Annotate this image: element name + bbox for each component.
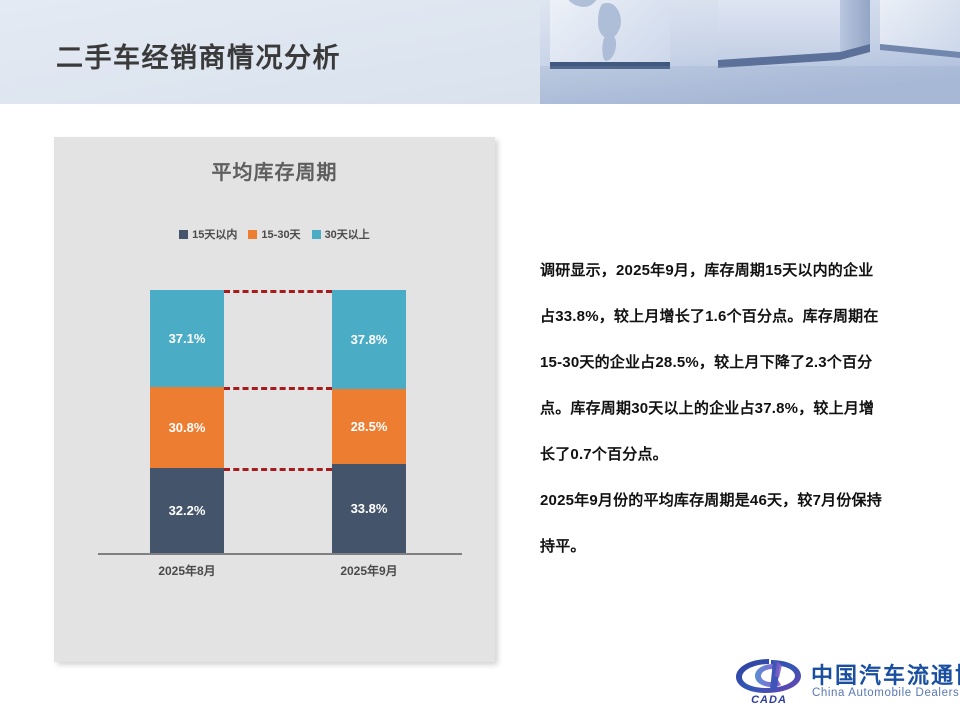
page-title: 二手车经销商情况分析	[56, 36, 341, 75]
logo-name-cn: 中国汽车流通协会	[811, 658, 960, 690]
bar-segment-over-30-days[interactable]: 37.8%	[332, 290, 406, 389]
slide-header: 二手车经销商情况分析	[0, 0, 960, 104]
commentary-line: 长了0.7个百分点。	[540, 432, 940, 478]
bar-segment-15-to-30-days[interactable]: 30.8%	[150, 387, 224, 468]
chart-card: 平均库存周期 15天以内 15-30天 30天以上 37.1% 30.8% 32…	[54, 137, 495, 662]
bar-column-2025-09[interactable]: 37.8% 28.5% 33.8%	[332, 290, 406, 553]
category-label-2025-09: 2025年9月	[314, 562, 424, 579]
commentary-line: 占33.8%，较上月增长了1.6个百分点。库存周期在	[540, 294, 940, 340]
commentary-line: 调研显示，2025年9月，库存周期15天以内的企业	[540, 248, 940, 294]
header-decoration-cubes-icon	[540, 0, 960, 104]
logo-name-en: China Automobile Dealers Association	[812, 687, 960, 699]
bar-segment-over-30-days[interactable]: 37.1%	[150, 290, 224, 388]
chart-axis-line	[98, 553, 462, 555]
commentary-line: 持平。	[540, 524, 940, 570]
bar-segment-15-days-or-less[interactable]: 33.8%	[332, 464, 406, 553]
commentary-line: 15-30天的企业占28.5%，较上月下降了2.3个百分	[540, 340, 940, 386]
connector-line-middle	[224, 387, 332, 390]
commentary-line: 点。库存周期30天以上的企业占37.8%，较上月增	[540, 386, 940, 432]
connector-line-top	[224, 290, 332, 293]
connector-line-bottom	[224, 468, 332, 471]
svg-text:CADA: CADA	[751, 694, 787, 706]
category-label-2025-08: 2025年8月	[132, 562, 242, 579]
cada-emblem-icon: CADA	[733, 656, 805, 706]
commentary-text: 调研显示，2025年9月，库存周期15天以内的企业 占33.8%，较上月增长了1…	[540, 248, 940, 570]
bar-segment-15-days-or-less[interactable]: 32.2%	[150, 468, 224, 553]
bar-column-2025-08[interactable]: 37.1% 30.8% 32.2%	[150, 290, 224, 553]
slide: 二手车经销商情况分析 平均库存周期 15天以内 15-30天 30天以上 37.…	[0, 0, 960, 720]
commentary-line: 2025年9月份的平均库存周期是46天，较7月份保持	[540, 478, 940, 524]
organization-logo: CADA 中国汽车流通协会 China Automobile Dealers A…	[733, 654, 953, 712]
bar-segment-15-to-30-days[interactable]: 28.5%	[332, 389, 406, 464]
chart-plot-area: 37.1% 30.8% 32.2% 37.8% 28.5% 33.8% 2025…	[54, 137, 495, 662]
